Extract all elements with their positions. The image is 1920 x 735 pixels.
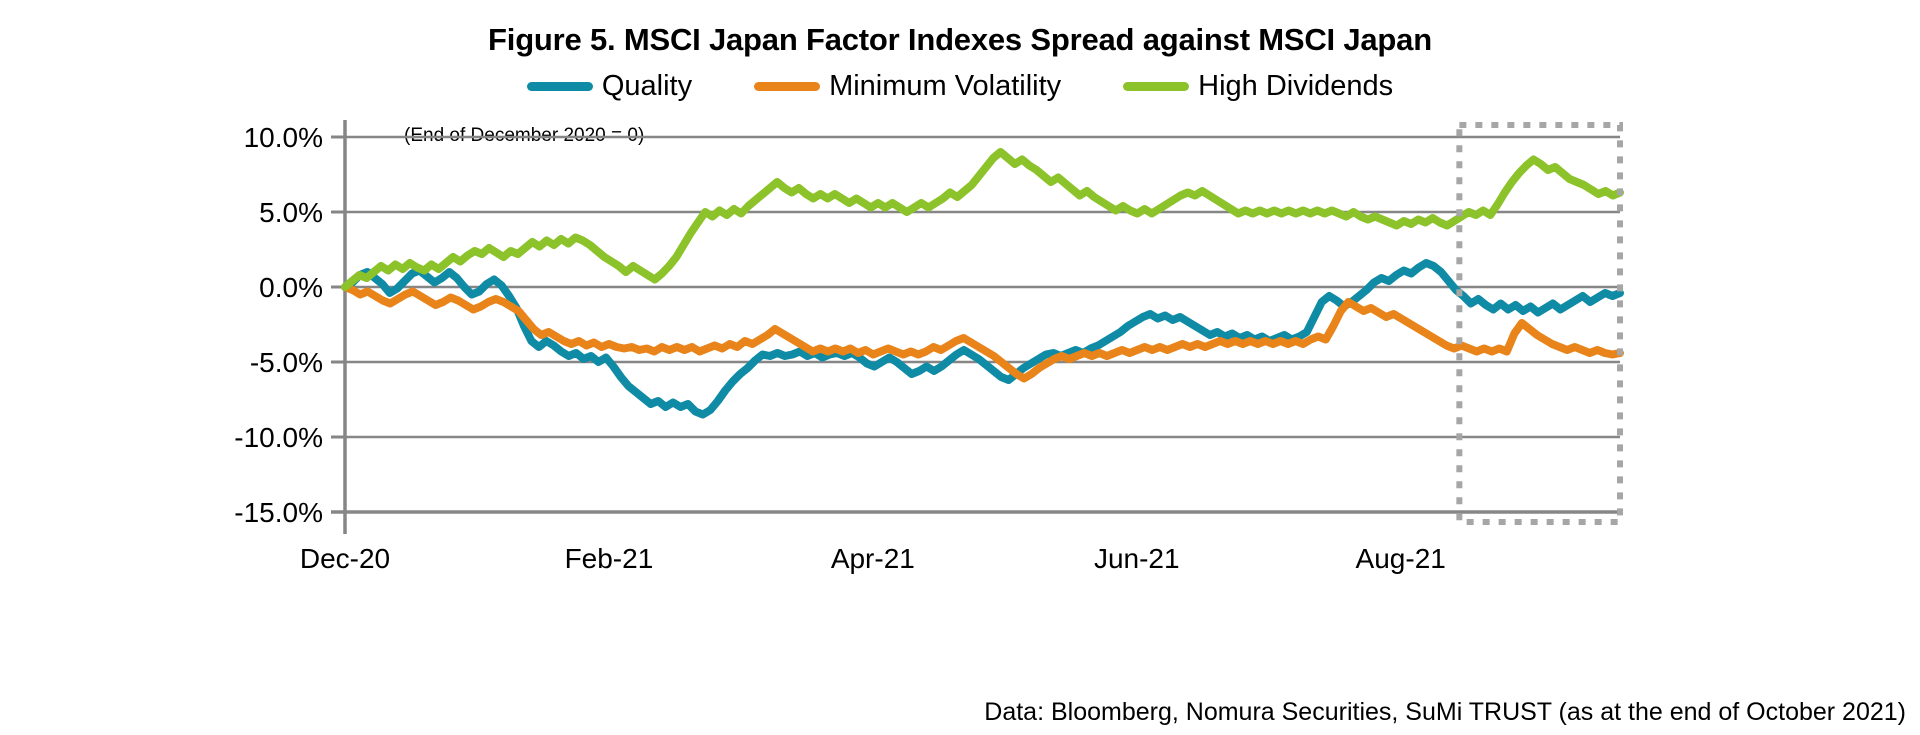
y-axis-tick-labels: 10.0%5.0%0.0%-5.0%-10.0%-15.0% <box>234 122 323 528</box>
x-axis-tick-labels: Dec-20Feb-21Apr-21Jun-21Aug-21 <box>300 543 1446 574</box>
x-tick-label-2: Apr-21 <box>831 543 915 574</box>
y-tick-label-1: 5.0% <box>259 197 323 228</box>
highlight-box <box>1459 125 1620 522</box>
x-tick-label-1: Feb-21 <box>565 543 654 574</box>
y-tick-label-5: -15.0% <box>234 497 323 528</box>
chart-plot-area: 10.0%5.0%0.0%-5.0%-10.0%-15.0% Dec-20Feb… <box>0 0 1920 735</box>
x-tick-label-4: Aug-21 <box>1356 543 1446 574</box>
y-tick-label-2: 0.0% <box>259 272 323 303</box>
y-tick-label-4: -10.0% <box>234 422 323 453</box>
y-tick-label-0: 10.0% <box>244 122 323 153</box>
highlight-box-rect <box>1459 125 1620 522</box>
y-tick-label-3: -5.0% <box>250 347 323 378</box>
data-series-group <box>345 152 1620 415</box>
x-tick-label-3: Jun-21 <box>1094 543 1180 574</box>
figure-msci-japan-factor-spread: Figure 5. MSCI Japan Factor Indexes Spre… <box>0 0 1920 735</box>
x-tick-label-0: Dec-20 <box>300 543 390 574</box>
gridlines <box>345 137 1620 437</box>
source-note: Data: Bloomberg, Nomura Securities, SuMi… <box>984 698 1906 727</box>
